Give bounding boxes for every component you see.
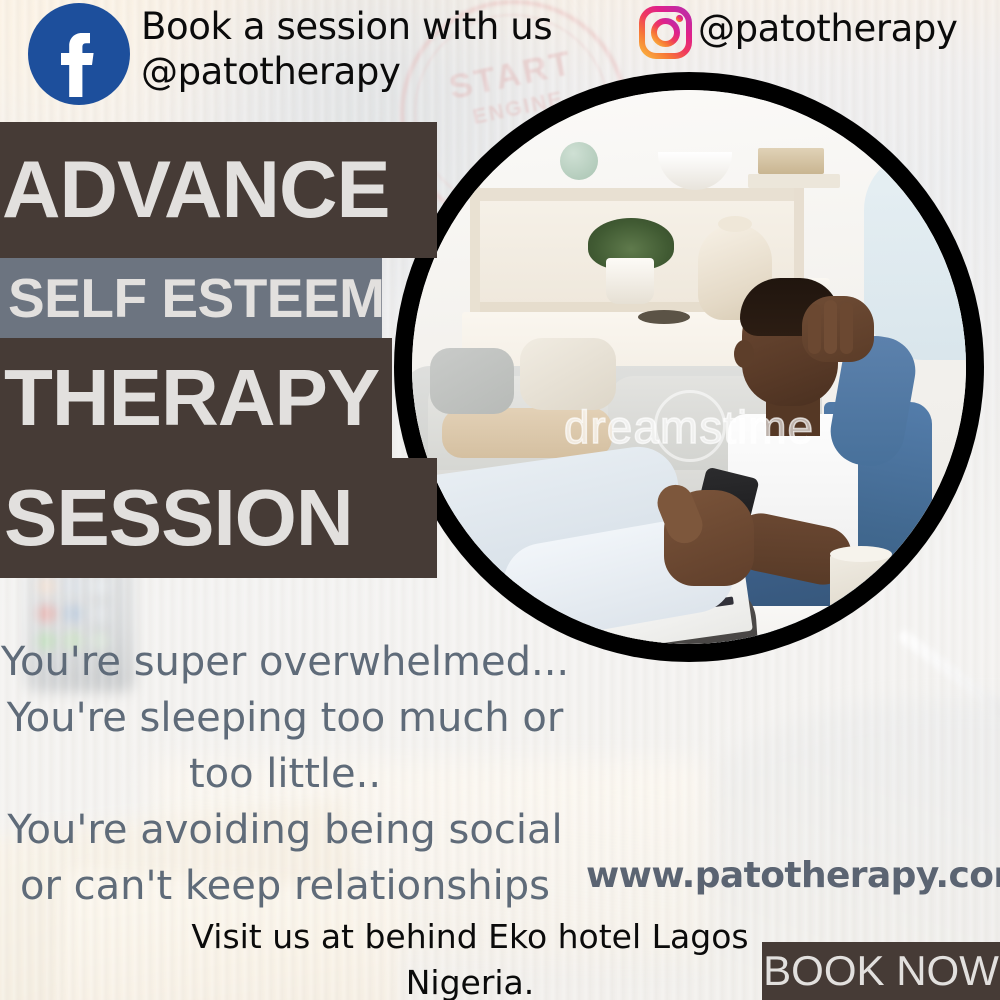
- facebook-icon[interactable]: [28, 3, 130, 105]
- headline-block-session: SESSION: [0, 458, 437, 578]
- therapy-session-photo: dreamstime: [412, 90, 966, 644]
- headline-therapy: THERAPY: [0, 352, 379, 444]
- photo-shelf-ball: [560, 142, 598, 180]
- photo-window: [864, 150, 966, 360]
- photo-client-finger-2: [824, 300, 837, 354]
- photo-watermark-text: dreamstime: [412, 400, 966, 454]
- website-url[interactable]: www.patotherapy.com: [586, 855, 1000, 896]
- photo-plant-pot: [606, 258, 654, 304]
- instagram-handle-text: @patotherapy: [698, 6, 958, 51]
- photo-client-ear: [734, 340, 754, 368]
- photo-shelf-box: [758, 148, 824, 174]
- visit-address: Visit us at behind Eko hotel Lagos Niger…: [150, 914, 790, 1000]
- body-copy-text: You're super overwhelmed... You're sleep…: [0, 634, 570, 914]
- headline-block-therapy: THERAPY: [0, 338, 392, 458]
- photo-client-finger-3: [840, 302, 853, 354]
- headline-session: SESSION: [0, 472, 353, 564]
- headline-advance: ADVANCE: [0, 144, 390, 237]
- headline-self-esteem: SELF ESTEEM: [0, 266, 385, 330]
- headline-block-self-esteem: SELF ESTEEM: [0, 258, 382, 338]
- headline-block-advance: ADVANCE: [0, 122, 437, 258]
- instagram-icon[interactable]: [637, 4, 694, 61]
- book-now-button[interactable]: BOOK NOW: [762, 942, 1000, 1000]
- photo-dark-dish: [638, 310, 690, 324]
- flyer-canvas: START ENGINE: [0, 0, 1000, 1000]
- book-now-label: BOOK NOW: [763, 947, 999, 995]
- photo-mug-rim: [830, 546, 892, 562]
- photo-shelf-book: [748, 174, 840, 188]
- photo-vase-mouth: [718, 216, 752, 232]
- photo-client-finger-1: [808, 304, 821, 354]
- photo-mug: [830, 552, 892, 620]
- facebook-handle-text: Book a session with us @patotherapy: [141, 4, 552, 94]
- photo-shelf-board-top: [472, 188, 802, 201]
